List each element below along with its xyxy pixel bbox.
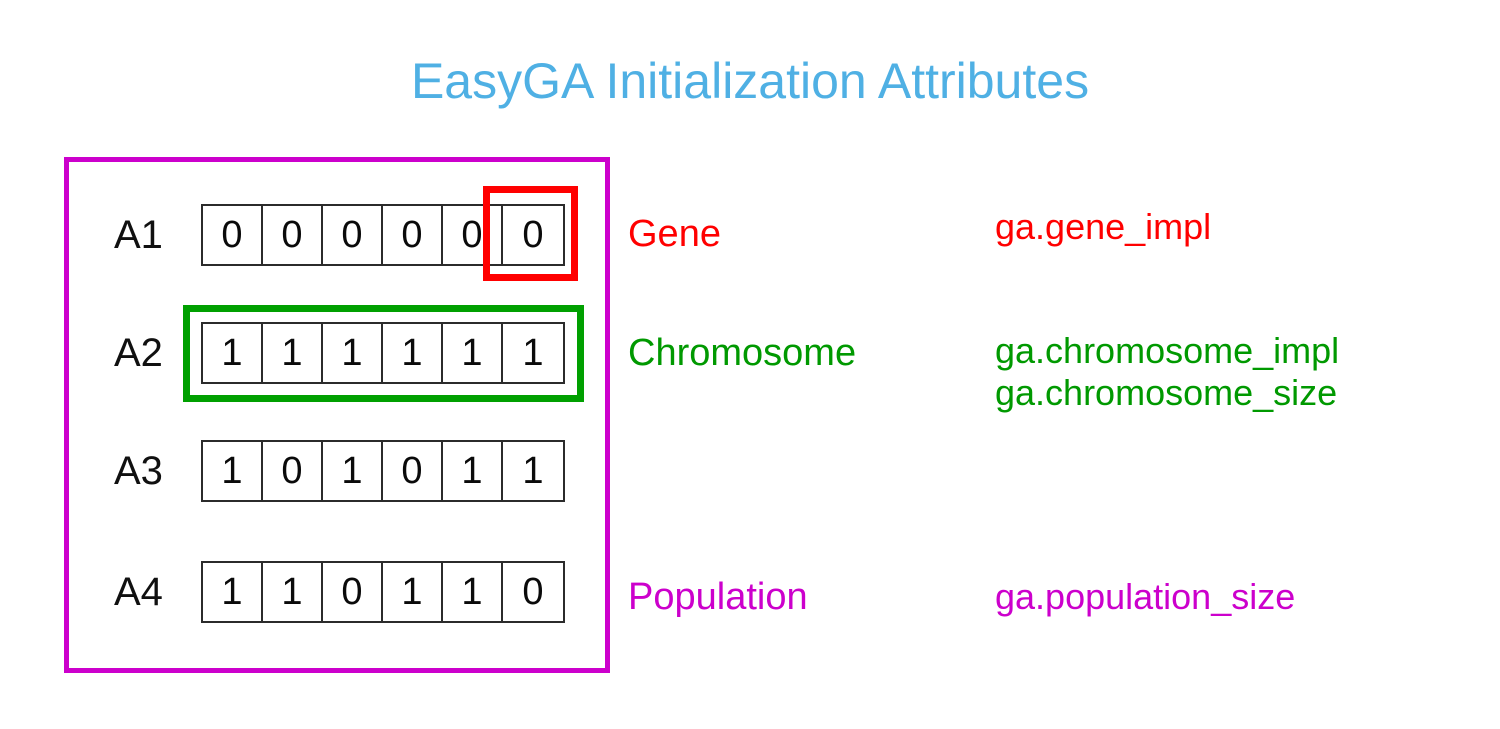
gene-cell: 0 xyxy=(443,206,503,264)
gene-strip-a2: 1 1 1 1 1 1 xyxy=(201,322,565,384)
gene-cell: 1 xyxy=(383,324,443,382)
attribute-label-gene: ga.gene_impl xyxy=(995,206,1211,248)
chromosome-row-a2: A2 1 1 1 1 1 1 xyxy=(0,322,610,384)
row-label-a4: A4 xyxy=(114,561,176,623)
chromosome-row-a1: A1 0 0 0 0 0 0 xyxy=(0,204,610,266)
gene-cell: 1 xyxy=(323,324,383,382)
gene-cell: 1 xyxy=(323,442,383,500)
gene-cell: 1 xyxy=(263,563,323,621)
gene-cell: 1 xyxy=(443,563,503,621)
page-title: EasyGA Initialization Attributes xyxy=(0,52,1500,110)
gene-strip-a3: 1 0 1 0 1 1 xyxy=(201,440,565,502)
gene-cell: 0 xyxy=(323,206,383,264)
attribute-chromosome-size: ga.chromosome_size xyxy=(995,372,1339,414)
gene-cell: 0 xyxy=(263,206,323,264)
row-label-a3: A3 xyxy=(114,440,176,502)
row-label-a1: A1 xyxy=(114,204,176,266)
legend-label-population: Population xyxy=(628,576,808,619)
gene-cell: 1 xyxy=(203,442,263,500)
gene-cell: 1 xyxy=(383,563,443,621)
legend-label-chromosome: Chromosome xyxy=(628,332,856,375)
attribute-population-size: ga.population_size xyxy=(995,576,1295,618)
gene-cell: 0 xyxy=(203,206,263,264)
attribute-label-population: ga.population_size xyxy=(995,576,1295,618)
gene-strip-a1: 0 0 0 0 0 0 xyxy=(201,204,565,266)
gene-cell: 1 xyxy=(203,563,263,621)
gene-cell: 1 xyxy=(503,324,563,382)
gene-cell: 1 xyxy=(443,442,503,500)
gene-cell: 1 xyxy=(263,324,323,382)
row-label-a2: A2 xyxy=(114,322,176,384)
gene-cell: 1 xyxy=(503,442,563,500)
attribute-label-chromosome: ga.chromosome_impl ga.chromosome_size xyxy=(995,330,1339,415)
gene-cell: 1 xyxy=(443,324,503,382)
chromosome-row-a3: A3 1 0 1 0 1 1 xyxy=(0,440,610,502)
attribute-gene-impl: ga.gene_impl xyxy=(995,206,1211,248)
chromosome-row-a4: A4 1 1 0 1 1 0 xyxy=(0,561,610,623)
gene-cell: 0 xyxy=(263,442,323,500)
legend-label-gene: Gene xyxy=(628,213,721,256)
gene-cell: 0 xyxy=(383,206,443,264)
gene-cell: 0 xyxy=(383,442,443,500)
attribute-chromosome-impl: ga.chromosome_impl xyxy=(995,330,1339,372)
gene-cell: 0 xyxy=(503,563,563,621)
gene-strip-a4: 1 1 0 1 1 0 xyxy=(201,561,565,623)
gene-cell: 0 xyxy=(323,563,383,621)
gene-cell: 1 xyxy=(203,324,263,382)
gene-cell-highlighted: 0 xyxy=(503,206,563,264)
